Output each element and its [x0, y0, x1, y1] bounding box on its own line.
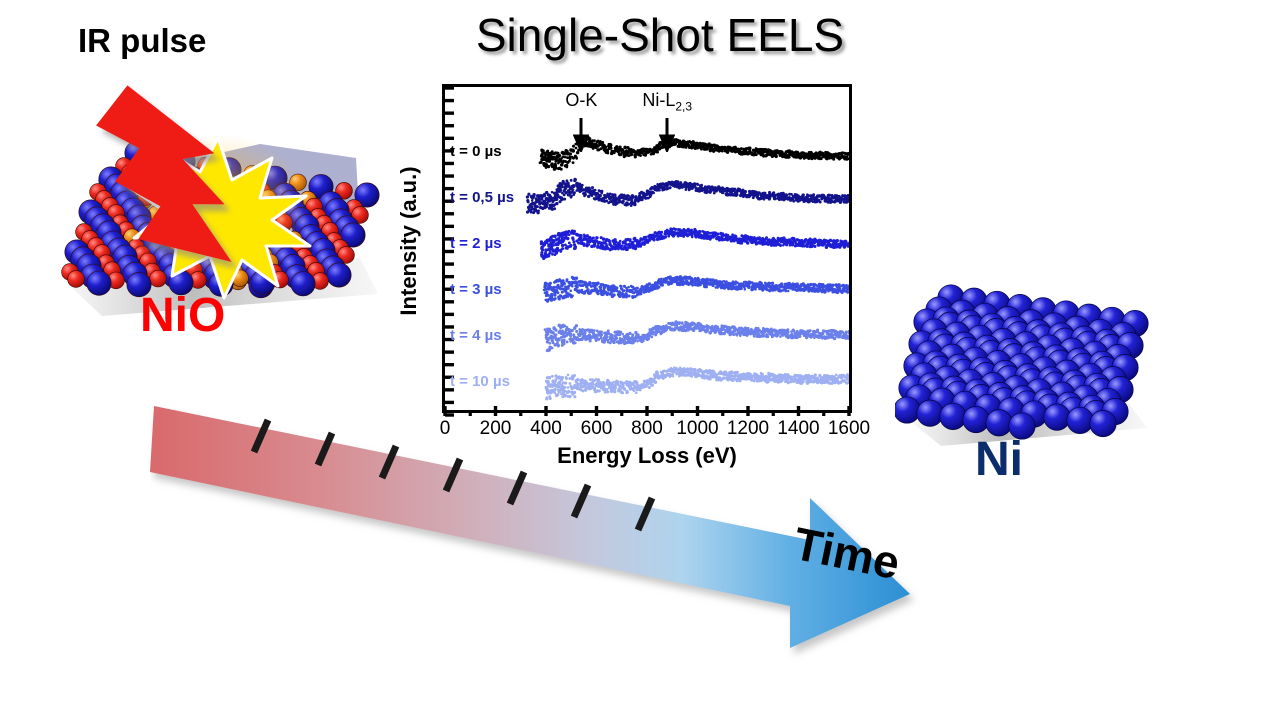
ni-label: Ni — [975, 432, 1023, 487]
peak-label-0: O-K — [565, 90, 597, 111]
xtick-label: 200 — [480, 418, 512, 440]
xtick-label: 1000 — [676, 418, 718, 440]
xtick-label: 600 — [581, 418, 613, 440]
chart-plot-area — [442, 84, 852, 413]
series-label-2: t = 2 µs — [450, 235, 502, 252]
xtick-label: 1600 — [828, 418, 870, 440]
peak-label-text: Ni-L — [642, 90, 675, 110]
series-label-1: t = 0,5 µs — [450, 189, 514, 206]
page-title: Single-Shot EELS — [420, 8, 900, 62]
xtick-label: 0 — [440, 418, 451, 440]
ir-pulse-bolt-icon — [80, 60, 340, 320]
eels-chart: Intensity (a.u.) O-KNi-L2,3 t = 0 µst = … — [386, 78, 886, 478]
xtick-label: 800 — [631, 418, 663, 440]
nio-label: NiO — [140, 288, 225, 343]
chart-xlabel: Energy Loss (eV) — [442, 443, 852, 469]
graphical-abstract: Single-Shot EELS — [0, 0, 1280, 720]
xtick-label: 1400 — [777, 418, 819, 440]
series-label-0: t = 0 µs — [450, 143, 502, 160]
series-label-5: t = 10 µs — [450, 373, 510, 390]
ni-crystal-structure — [895, 270, 1165, 450]
series-label-3: t = 3 µs — [450, 281, 502, 298]
xtick-label: 1200 — [727, 418, 769, 440]
peak-arrow-icon — [659, 118, 675, 152]
chart-ylabel: Intensity (a.u.) — [396, 126, 422, 356]
peak-arrow-icon — [573, 118, 589, 152]
ir-pulse-label: IR pulse — [78, 22, 206, 60]
peak-label-subscript: 2,3 — [675, 100, 692, 114]
peak-label-1: Ni-L2,3 — [642, 90, 692, 114]
xtick-label: 400 — [530, 418, 562, 440]
series-label-4: t = 4 µs — [450, 327, 502, 344]
chart-canvas — [445, 87, 849, 410]
peak-label-text: O-K — [565, 90, 597, 110]
